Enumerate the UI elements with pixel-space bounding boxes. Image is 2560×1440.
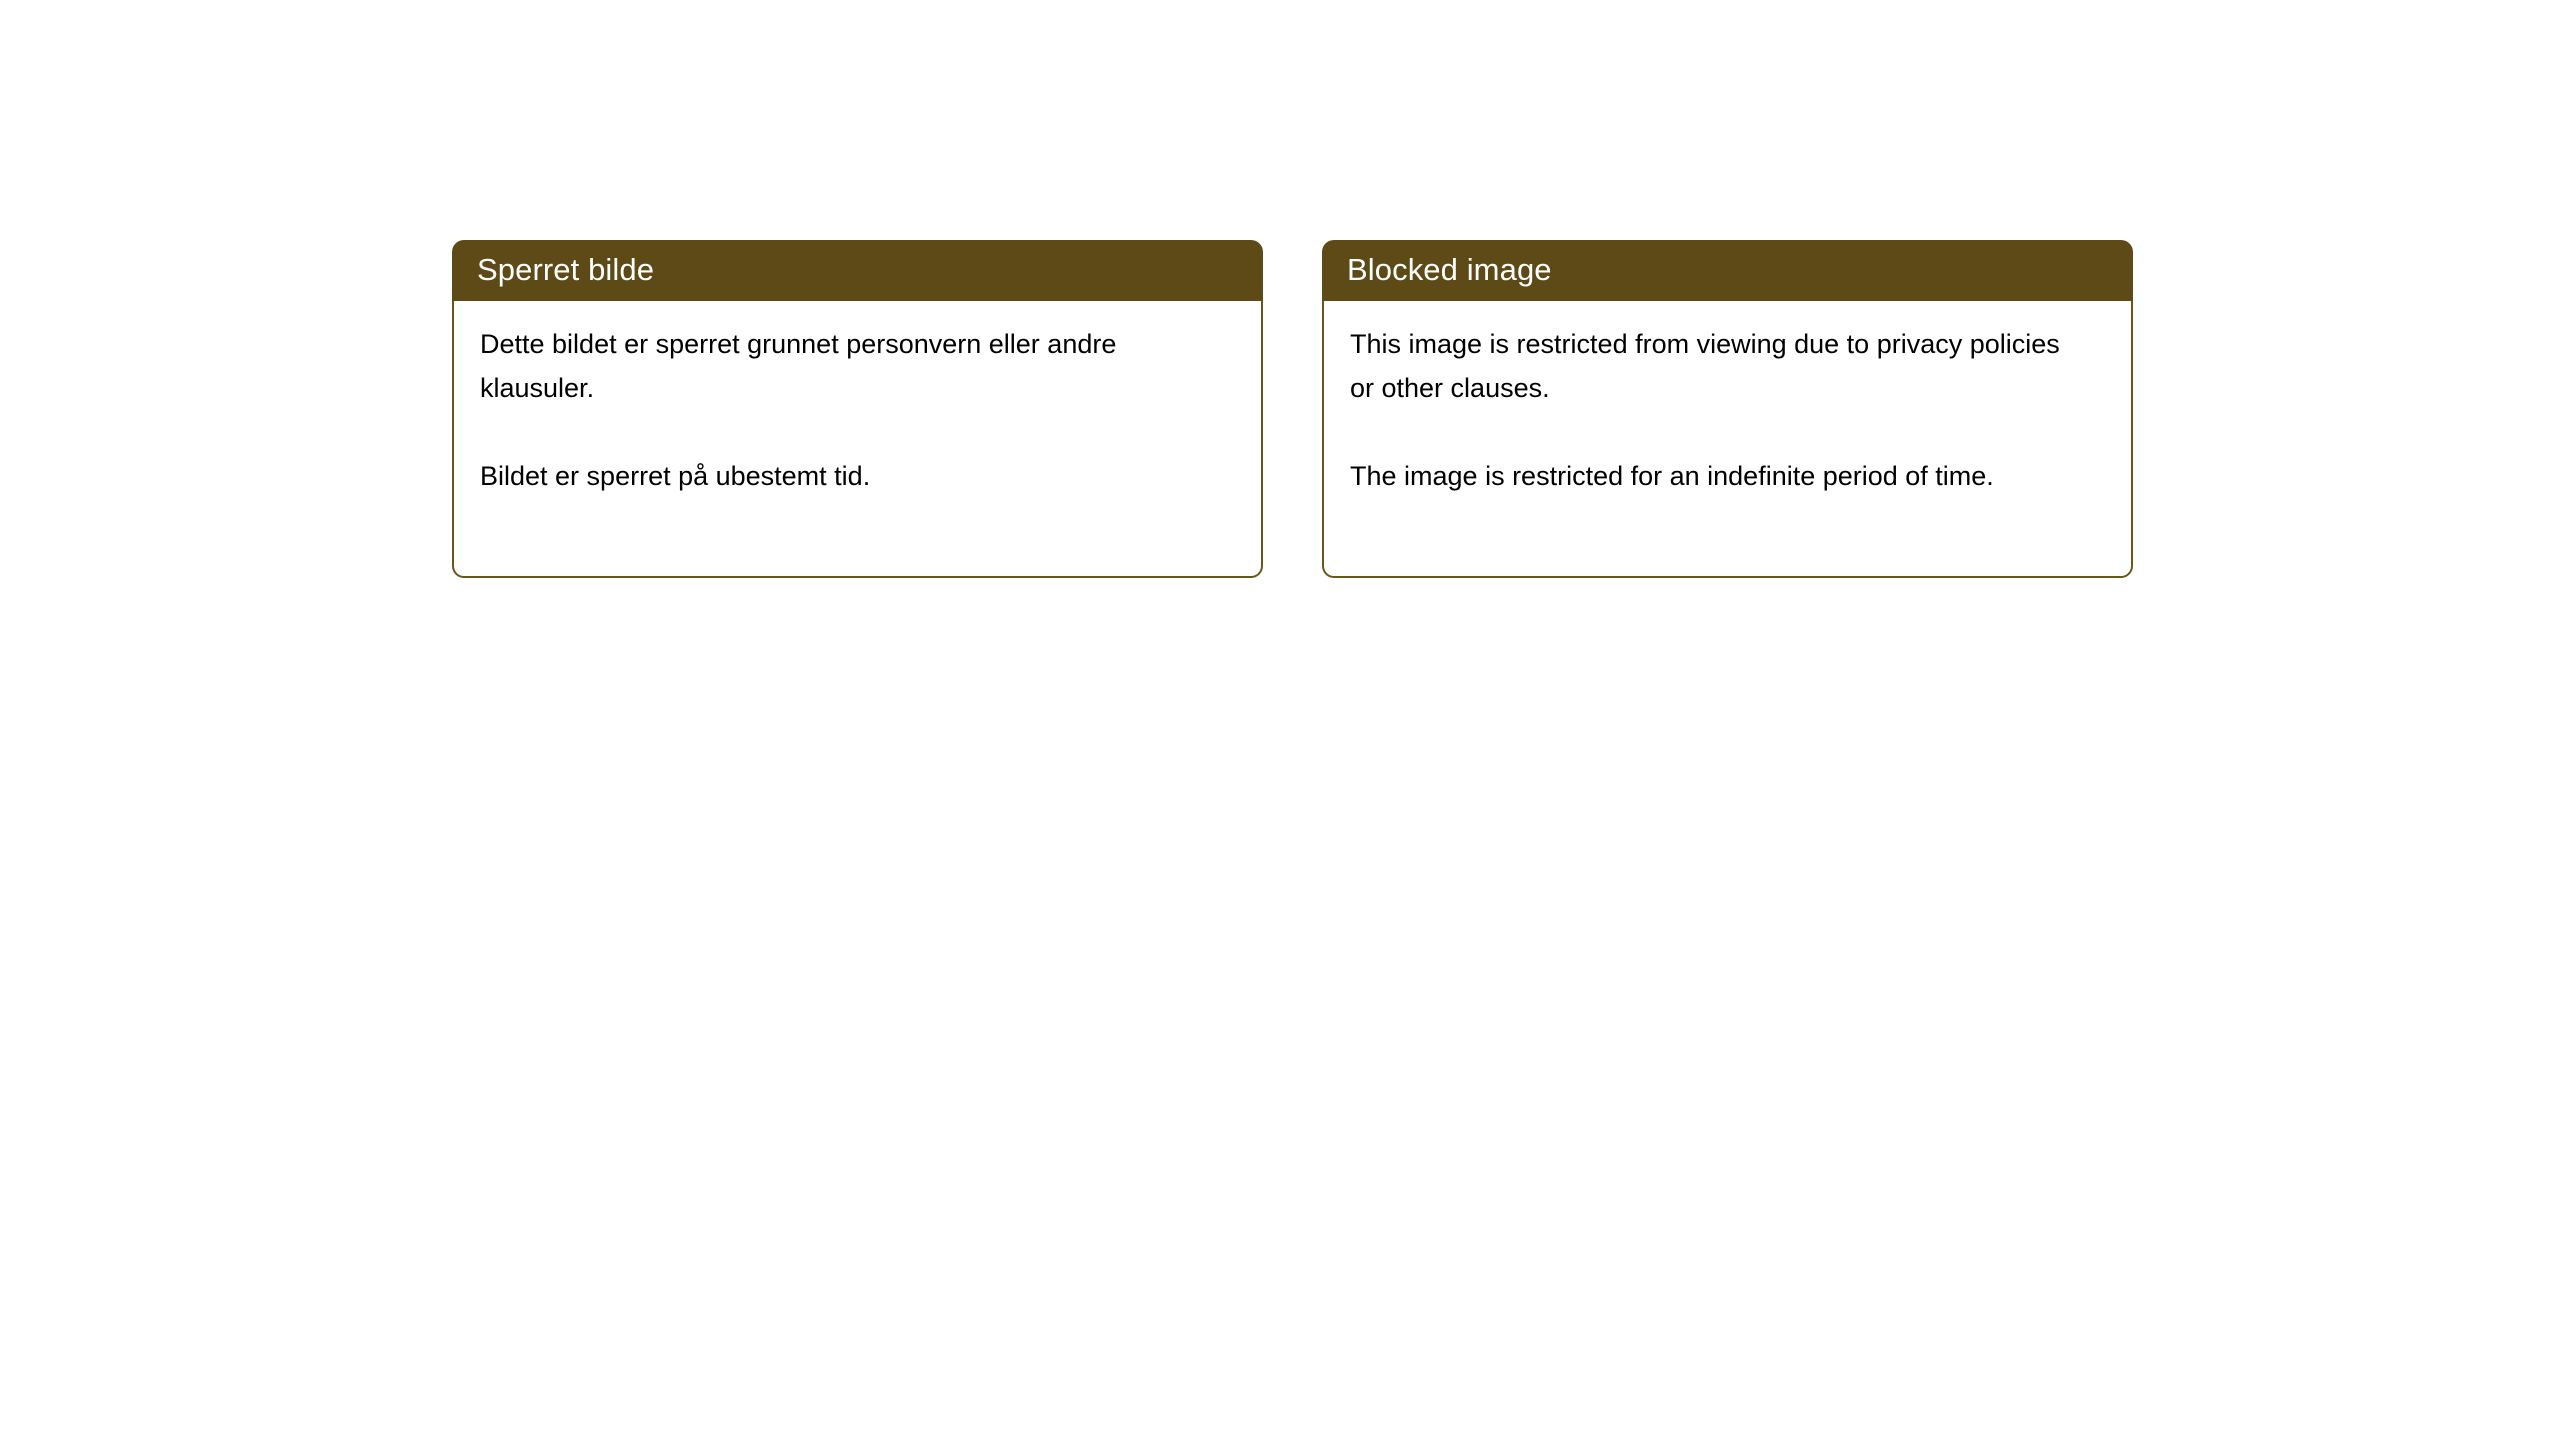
blocked-image-notice-card-en: Blocked image This image is restricted f…	[1322, 240, 2133, 578]
blocked-image-notice-row: Sperret bilde Dette bildet er sperret gr…	[452, 240, 2133, 578]
notice-body-no: Dette bildet er sperret grunnet personve…	[452, 301, 1263, 578]
page-root: Sperret bilde Dette bildet er sperret gr…	[0, 0, 2560, 1440]
notice-header-en: Blocked image	[1322, 240, 2133, 301]
notice-title-en: Blocked image	[1347, 253, 1552, 287]
notice-paragraph-no-2: Bildet er sperret på ubestemt tid.	[480, 454, 1180, 498]
notice-header-no: Sperret bilde	[452, 240, 1263, 301]
notice-body-en: This image is restricted from viewing du…	[1322, 301, 2133, 578]
notice-paragraph-en-1: This image is restricted from viewing du…	[1350, 322, 2090, 410]
notice-title-no: Sperret bilde	[477, 253, 654, 287]
notice-paragraph-no-1: Dette bildet er sperret grunnet personve…	[480, 322, 1180, 410]
notice-paragraph-en-2: The image is restricted for an indefinit…	[1350, 454, 2090, 498]
blocked-image-notice-card-no: Sperret bilde Dette bildet er sperret gr…	[452, 240, 1263, 578]
